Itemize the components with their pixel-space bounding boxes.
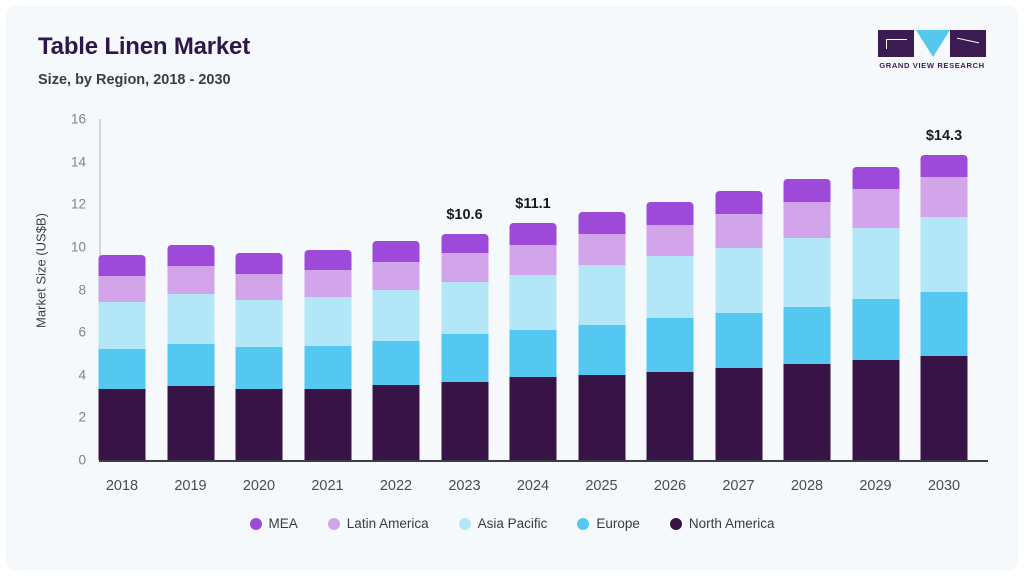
y-axis-tick-label: 10 [36,239,86,254]
bar-segment[interactable] [578,212,625,234]
x-axis-tick-label: 2025 [585,478,617,494]
bar-segment[interactable] [99,389,146,460]
bar-segment[interactable] [852,189,899,227]
x-axis-tick-label: 2024 [517,478,549,494]
bar-segment[interactable] [167,344,214,387]
x-axis-tick-label: 2026 [654,478,686,494]
y-axis-tick-label: 2 [36,410,86,425]
bar-segment[interactable] [784,202,831,238]
bar-segment[interactable] [647,202,694,224]
x-axis-tick-label: 2028 [791,478,823,494]
legend-item-label: Europe [596,516,640,531]
bar-segment[interactable] [304,346,351,389]
bar-segment[interactable] [373,341,420,386]
bar-2029[interactable] [852,167,899,460]
bar-2028[interactable] [784,179,831,460]
bar-segment[interactable] [373,385,420,460]
bar-2022[interactable] [373,241,420,461]
bar-value-label: $10.6 [446,207,482,223]
bar-2030[interactable] [921,155,968,460]
bar-segment[interactable] [167,266,214,294]
stacked-bar-chart: Market Size (US$B) 024681012141620182019… [8,8,1016,568]
bar-value-label: $14.3 [926,128,962,144]
bar-segment[interactable] [236,253,283,273]
legend-item-europe[interactable]: Europe [577,516,640,531]
bar-segment[interactable] [236,274,283,301]
y-axis-tick-label: 16 [36,112,86,127]
x-axis-tick-label: 2029 [859,478,891,494]
x-axis-tick-label: 2021 [311,478,343,494]
bar-segment[interactable] [715,313,762,368]
legend-item-north-america[interactable]: North America [670,516,775,531]
bar-segment[interactable] [578,325,625,375]
x-axis-tick-label: 2023 [448,478,480,494]
legend-swatch-icon [670,518,682,530]
legend-item-label: Latin America [347,516,429,531]
bar-segment[interactable] [304,250,351,270]
x-axis-tick-label: 2019 [174,478,206,494]
legend-swatch-icon [577,518,589,530]
bar-segment[interactable] [647,256,694,318]
bar-segment[interactable] [99,302,146,349]
bar-segment[interactable] [510,223,557,244]
bar-segment[interactable] [441,253,488,282]
bar-segment[interactable] [99,255,146,275]
bar-segment[interactable] [852,299,899,360]
bar-segment[interactable] [304,297,351,346]
bar-2023[interactable] [441,234,488,460]
bar-2021[interactable] [304,250,351,460]
bar-segment[interactable] [784,238,831,306]
bar-segment[interactable] [647,372,694,460]
bar-segment[interactable] [236,347,283,389]
bar-segment[interactable] [304,270,351,297]
x-axis-tick-label: 2022 [380,478,412,494]
bar-segment[interactable] [784,364,831,460]
bar-segment[interactable] [441,382,488,460]
bar-2024[interactable] [510,223,557,460]
bar-segment[interactable] [167,294,214,344]
bar-segment[interactable] [921,177,968,217]
bar-2019[interactable] [167,245,214,460]
legend-item-label: North America [689,516,775,531]
bar-segment[interactable] [921,155,968,176]
bar-segment[interactable] [784,307,831,365]
bar-segment[interactable] [510,330,557,377]
legend-item-mea[interactable]: MEA [250,516,298,531]
bar-segment[interactable] [921,217,968,292]
bar-2027[interactable] [715,191,762,460]
bar-segment[interactable] [236,300,283,347]
y-axis-tick-label: 0 [36,453,86,468]
legend-swatch-icon [328,518,340,530]
x-axis-tick-label: 2018 [106,478,138,494]
bar-2025[interactable] [578,212,625,460]
chart-card: Table Linen Market Size, by Region, 2018… [8,8,1016,568]
bar-segment[interactable] [373,290,420,341]
bar-segment[interactable] [715,248,762,313]
bar-2020[interactable] [236,253,283,460]
bar-segment[interactable] [784,179,831,202]
y-axis-tick-label: 6 [36,325,86,340]
bar-segment[interactable] [921,356,968,460]
bar-segment[interactable] [236,389,283,460]
legend-item-asia-pacific[interactable]: Asia Pacific [459,516,548,531]
bar-segment[interactable] [441,234,488,253]
y-axis-tick-label: 4 [36,367,86,382]
y-axis-tick-label: 12 [36,197,86,212]
bar-segment[interactable] [715,368,762,460]
bar-2026[interactable] [647,202,694,460]
x-axis-line [99,460,988,462]
bar-segment[interactable] [373,262,420,290]
bar-segment[interactable] [715,214,762,248]
screenshot-root: Table Linen Market Size, by Region, 2018… [0,0,1024,576]
bar-segment[interactable] [99,276,146,303]
bar-segment[interactable] [441,282,488,334]
legend-item-label: MEA [269,516,298,531]
bar-segment[interactable] [99,349,146,388]
bar-segment[interactable] [510,377,557,460]
legend-item-label: Asia Pacific [478,516,548,531]
bar-segment[interactable] [578,375,625,460]
x-axis-tick-label: 2020 [243,478,275,494]
y-axis-tick-label: 8 [36,282,86,297]
bar-segment[interactable] [852,228,899,299]
chart-legend: MEALatin AmericaAsia PacificEuropeNorth … [8,516,1016,531]
bar-segment[interactable] [578,265,625,325]
bar-segment[interactable] [852,167,899,189]
bar-value-label: $11.1 [515,196,551,212]
bar-segment[interactable] [167,245,214,266]
legend-swatch-icon [459,518,471,530]
y-axis-tick-label: 14 [36,154,86,169]
bar-2018[interactable] [99,255,146,460]
bar-segment[interactable] [715,191,762,213]
legend-swatch-icon [250,518,262,530]
bar-segment[interactable] [304,389,351,460]
x-axis-tick-label: 2030 [928,478,960,494]
bar-segment[interactable] [647,225,694,257]
bar-segment[interactable] [373,241,420,262]
x-axis-tick-label: 2027 [722,478,754,494]
bar-segment[interactable] [510,275,557,330]
bar-segment[interactable] [647,318,694,371]
bar-segment[interactable] [852,360,899,460]
bar-segment[interactable] [510,245,557,275]
bar-segment[interactable] [578,234,625,265]
bar-segment[interactable] [441,334,488,382]
bar-segment[interactable] [921,292,968,356]
legend-item-latin-america[interactable]: Latin America [328,516,429,531]
bar-segment[interactable] [167,386,214,460]
